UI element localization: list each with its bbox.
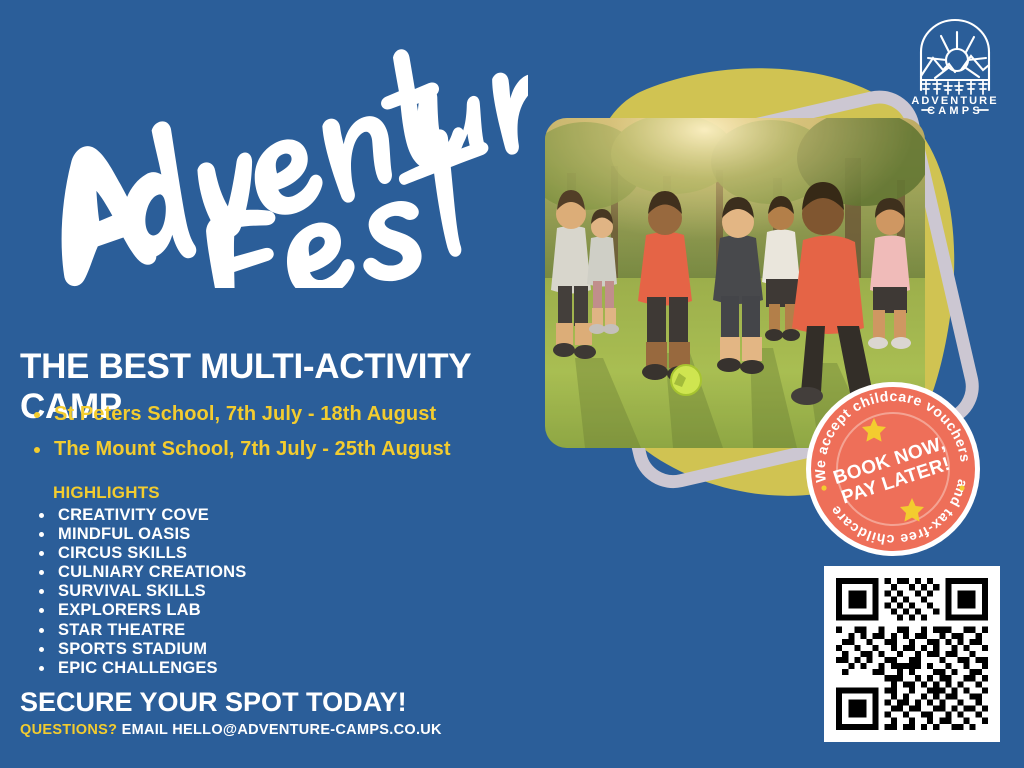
logo-name-bottom: CAMPS	[927, 105, 983, 114]
list-item: EXPLORERS LAB	[34, 602, 434, 619]
list-item: SPORTS STADIUM	[34, 641, 434, 658]
list-item: St Peters School, 7th July - 18th August	[28, 404, 548, 424]
contact-line: QUESTIONS? EMAIL HELLO@ADVENTURE-CAMPS.C…	[20, 722, 442, 738]
highlights-heading: HIGHLIGHTS	[53, 483, 160, 503]
questions-label: QUESTIONS?	[20, 722, 117, 738]
brand-wordmark	[18, 8, 528, 288]
list-item: MINDFUL OASIS	[34, 526, 434, 543]
list-item: EPIC CHALLENGES	[34, 660, 434, 677]
list-item: SURVIVAL SKILLS	[34, 583, 434, 600]
highlights-list: CREATIVITY COVE MINDFUL OASIS CIRCUS SKI…	[34, 507, 434, 679]
poster-canvas: THE BEST MULTI-ACTIVITY CAMP St Peters S…	[0, 0, 1024, 768]
list-item: CULNIARY CREATIONS	[34, 564, 434, 581]
company-logo: ADVENTURE CAMPS	[905, 18, 1005, 114]
list-item: CIRCUS SKILLS	[34, 545, 434, 562]
email-label: EMAIL HELLO@ADVENTURE-CAMPS.CO.UK	[122, 722, 442, 738]
list-item: STAR THEATRE	[34, 622, 434, 639]
promo-badge[interactable]: We accept childcare vouchers and tax-fre…	[806, 382, 980, 556]
qr-code[interactable]	[824, 566, 1000, 742]
school-dates-list: St Peters School, 7th July - 18th August…	[28, 404, 548, 474]
list-item: The Mount School, 7th July - 25th August	[28, 439, 548, 459]
list-item: CREATIVITY COVE	[34, 507, 434, 524]
qr-code-icon	[824, 566, 1000, 742]
cta-headline: SECURE YOUR SPOT TODAY!	[20, 687, 407, 718]
